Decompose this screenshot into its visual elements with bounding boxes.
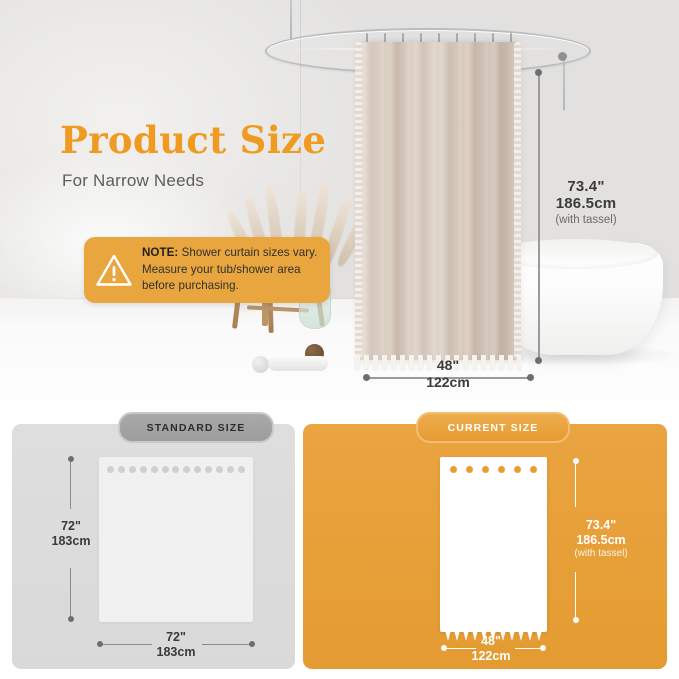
curtain-edge-left: [355, 42, 362, 360]
dimension-endpoint-dot: [249, 641, 255, 647]
width-cm: 122cm: [378, 374, 518, 391]
standard-height-label: 72" 183cm: [31, 519, 111, 549]
stool-rung: [262, 300, 268, 326]
current-width-label: 48" 122cm: [451, 634, 531, 664]
grommet: [238, 466, 245, 473]
bathroom-photo-scene: 73.4" 186.5cm (with tassel) 48" 122cm: [0, 0, 679, 400]
grommet: [530, 466, 537, 473]
current-height-label: 73.4" 186.5cm (with tassel): [546, 518, 656, 561]
grommet: [227, 466, 234, 473]
height-cm: 186.5cm: [516, 195, 656, 212]
grommet: [216, 466, 223, 473]
current-height-line-top: [575, 461, 576, 507]
warning-triangle-icon: [95, 253, 133, 287]
page-title: Product Size: [60, 118, 326, 162]
standard-width-inches: 72": [136, 630, 216, 645]
standard-size-badge: STANDARD SIZE: [118, 412, 274, 443]
grommet: [205, 466, 212, 473]
current-height-line-bottom: [575, 572, 576, 620]
product-size-infographic: 73.4" 186.5cm (with tassel) 48" 122cm Pr…: [0, 0, 679, 679]
current-width-inches: 48": [451, 634, 531, 649]
page-subtitle: For Narrow Needs: [62, 171, 204, 191]
dimension-endpoint-dot: [97, 641, 103, 647]
note-callout: NOTE: Shower curtain sizes vary. Measure…: [84, 237, 330, 303]
dimension-endpoint-dot: [535, 69, 542, 76]
dimension-endpoint-dot: [363, 374, 370, 381]
grommet: [162, 466, 169, 473]
photo-height-label: 73.4" 186.5cm (with tassel): [516, 178, 656, 228]
grommet: [482, 466, 489, 473]
grommet: [194, 466, 201, 473]
dimension-endpoint-dot: [527, 374, 534, 381]
dimension-endpoint-dot: [68, 456, 74, 462]
grommet: [183, 466, 190, 473]
current-grommet-row: [440, 465, 547, 474]
standard-curtain-shape: [99, 457, 253, 622]
grommet: [514, 466, 521, 473]
dimension-endpoint-dot: [68, 616, 74, 622]
standard-grommet-row: [99, 465, 253, 474]
rod-joint-knob: [558, 52, 567, 61]
grommet: [498, 466, 505, 473]
dimension-endpoint-dot: [441, 645, 447, 651]
grommet: [107, 466, 114, 473]
tassel: [536, 630, 542, 641]
grommet: [172, 466, 179, 473]
dimension-endpoint-dot: [573, 458, 579, 464]
grommet: [140, 466, 147, 473]
current-width-cm: 122cm: [451, 649, 531, 664]
shower-curtain: [358, 42, 518, 360]
grommet: [118, 466, 125, 473]
curtain-sheen: [358, 42, 518, 360]
grommet: [151, 466, 158, 473]
grommet: [466, 466, 473, 473]
rolled-towel: [268, 356, 328, 371]
dimension-endpoint-dot: [573, 617, 579, 623]
height-qualifier: (with tassel): [516, 213, 656, 228]
width-inches: 48": [378, 357, 518, 374]
rod-ceiling-support-right: [563, 56, 565, 110]
tassel: [445, 630, 451, 641]
grommet: [129, 466, 136, 473]
standard-width-label: 72" 183cm: [136, 630, 216, 660]
rod-ceiling-support-left: [290, 0, 292, 40]
note-label: NOTE:: [142, 246, 178, 259]
height-inches: 73.4": [516, 178, 656, 195]
current-height-cm: 186.5cm: [546, 533, 656, 548]
current-curtain-shape: [440, 457, 547, 632]
standard-height-line-top: [70, 459, 71, 509]
standard-height-line-bottom: [70, 568, 71, 620]
current-height-inches: 73.4": [546, 518, 656, 533]
current-height-qualifier: (with tassel): [546, 548, 656, 561]
standard-width-cm: 183cm: [136, 645, 216, 660]
photo-width-label: 48" 122cm: [378, 357, 518, 390]
current-size-badge: CURRENT SIZE: [416, 412, 570, 443]
dimension-endpoint-dot: [535, 357, 542, 364]
standard-height-inches: 72": [31, 519, 111, 534]
grommet: [450, 466, 457, 473]
standard-height-cm: 183cm: [31, 534, 111, 549]
note-text-block: NOTE: Shower curtain sizes vary. Measure…: [142, 245, 320, 294]
dimension-endpoint-dot: [540, 645, 546, 651]
decorative-ball-white: [252, 356, 269, 373]
